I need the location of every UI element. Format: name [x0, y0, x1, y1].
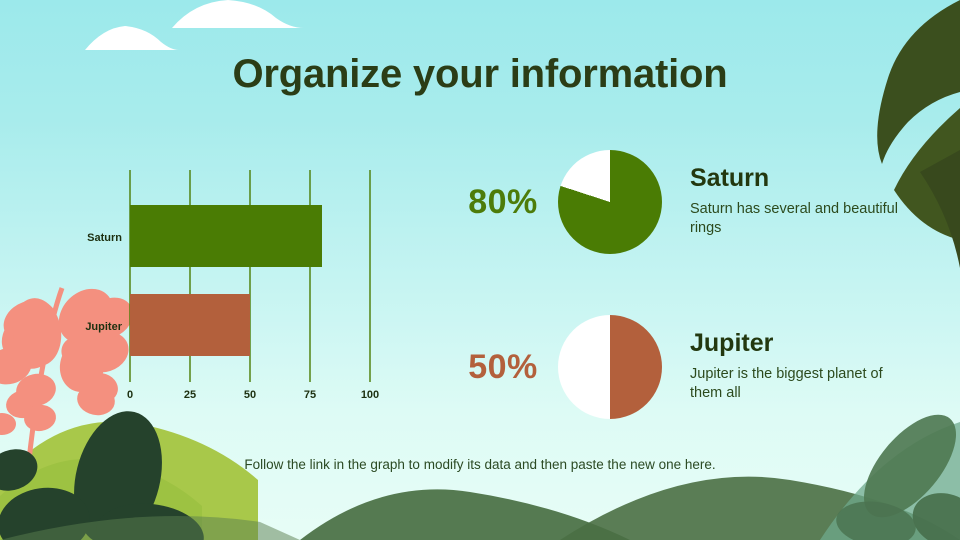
stat-row-jupiter: 50% Jupiter Jupiter is the biggest plane… [448, 315, 918, 419]
xtick-75: 75 [304, 389, 316, 401]
stat-heading-saturn: Saturn [690, 165, 905, 193]
cloud-icon-right [172, 0, 304, 28]
hill-olive-left [0, 422, 258, 540]
stat-percent-saturn: 80% [448, 183, 558, 222]
cloud-icon-left [85, 26, 179, 50]
stat-body-jupiter: Jupiter is the biggest planet of them al… [690, 365, 905, 404]
stat-body-saturn: Saturn has several and beautiful rings [690, 200, 905, 239]
hill-band-bottom [0, 477, 960, 540]
pie-chart-saturn [558, 150, 662, 254]
stat-heading-jupiter: Jupiter [690, 330, 905, 358]
bar-saturn [130, 205, 322, 267]
bar-chart: Saturn Jupiter 0 25 50 75 100 [60, 160, 400, 410]
stat-row-saturn: 80% Saturn Saturn has several and beauti… [448, 150, 918, 254]
stat-text-jupiter: Jupiter Jupiter is the biggest planet of… [690, 330, 905, 404]
xtick-50: 50 [244, 389, 256, 401]
bar-label-saturn: Saturn [87, 232, 122, 244]
footer-note: Follow the link in the graph to modify i… [0, 457, 960, 472]
bar-jupiter [130, 294, 250, 356]
xtick-100: 100 [361, 389, 379, 401]
slide-canvas: Organize your information Saturn Jupiter… [0, 0, 960, 540]
xtick-0: 0 [127, 389, 133, 401]
stat-text-saturn: Saturn Saturn has several and beautiful … [690, 165, 905, 239]
stat-percent-jupiter: 50% [448, 348, 558, 387]
pie-chart-jupiter [558, 315, 662, 419]
bar-label-jupiter: Jupiter [85, 321, 122, 333]
page-title: Organize your information [0, 52, 960, 97]
xtick-25: 25 [184, 389, 196, 401]
